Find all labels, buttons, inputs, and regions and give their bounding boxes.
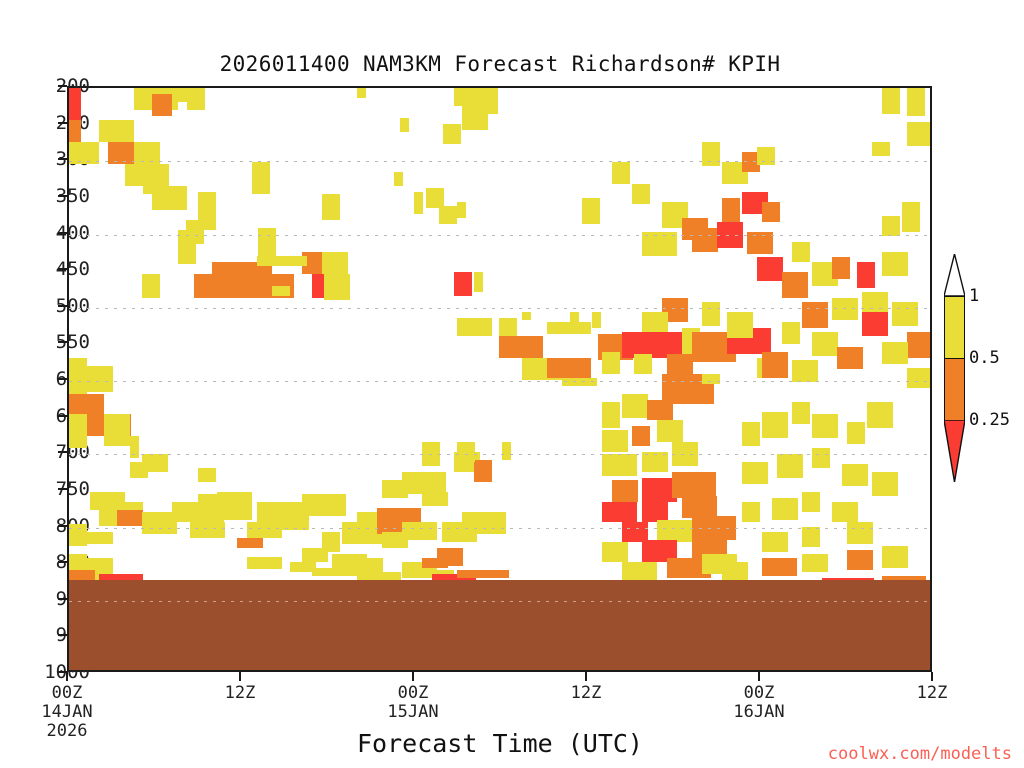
colorbar: 10.50.25 [944,296,965,482]
y-axis-tick-mark [58,378,67,380]
chart-title: 2026011400 NAM3KM Forecast Richardson# K… [0,52,1000,76]
y-axis-tick-mark [58,85,67,87]
x-tick-date: 15JAN [353,703,473,722]
y-axis-tick-mark [58,415,67,417]
x-tick-time: 00Z [398,683,429,703]
y-axis-tick-mark [58,561,67,563]
x-axis-tick-label: 12Z [872,684,992,703]
x-axis-tick-label: 00Z15JAN [353,684,473,722]
plot-area [67,86,932,672]
y-axis-tick-mark [58,488,67,490]
credit-watermark: coolwx.com/modelts [828,744,1012,764]
y-axis-tick-mark [58,598,67,600]
y-axis-tick-mark [58,305,67,307]
colorbar-segment [944,296,965,358]
x-axis-tick-mark [931,672,933,681]
x-tick-date: 16JAN [699,703,819,722]
x-tick-time: 12Z [571,683,602,703]
colorbar-arrow-up-outline [944,254,965,300]
y-axis-tick-mark [58,232,67,234]
terrain-mask-layer [69,88,930,670]
colorbar-tick-label: 0.25 [969,410,1010,430]
x-axis-tick-mark [66,672,68,681]
x-axis-tick-mark [239,672,241,681]
y-axis-tick-mark [58,525,67,527]
x-tick-time: 12Z [917,683,948,703]
x-axis-tick-mark [412,672,414,681]
y-axis-tick-mark [58,195,67,197]
x-tick-date: 14JAN [7,703,127,722]
richardson-forecast-chart: 2026011400 NAM3KM Forecast Richardson# K… [0,0,1024,768]
x-axis-tick-mark [585,672,587,681]
y-axis-tick-mark [58,634,67,636]
colorbar-tick-label: 1 [969,286,979,306]
colorbar-arrow-down [944,420,965,486]
y-axis-tick-mark [58,158,67,160]
colorbar-segment [944,358,965,420]
x-axis-tick-mark [758,672,760,681]
gridline [69,601,930,602]
colorbar-divider [944,296,965,297]
x-axis-tick-label: 00Z16JAN [699,684,819,722]
colorbar-divider [944,358,965,359]
y-axis-tick-mark [58,341,67,343]
y-axis-tick-mark [58,268,67,270]
colorbar-tick-label: 0.5 [969,348,1000,368]
x-axis-tick-label: 12Z [526,684,646,703]
x-tick-time: 00Z [744,683,775,703]
terrain-mask [69,580,930,672]
x-axis-tick-label: 12Z [180,684,300,703]
x-tick-time: 00Z [52,683,83,703]
x-tick-time: 12Z [225,683,256,703]
y-axis-tick-mark [58,122,67,124]
y-axis-tick-mark [58,451,67,453]
